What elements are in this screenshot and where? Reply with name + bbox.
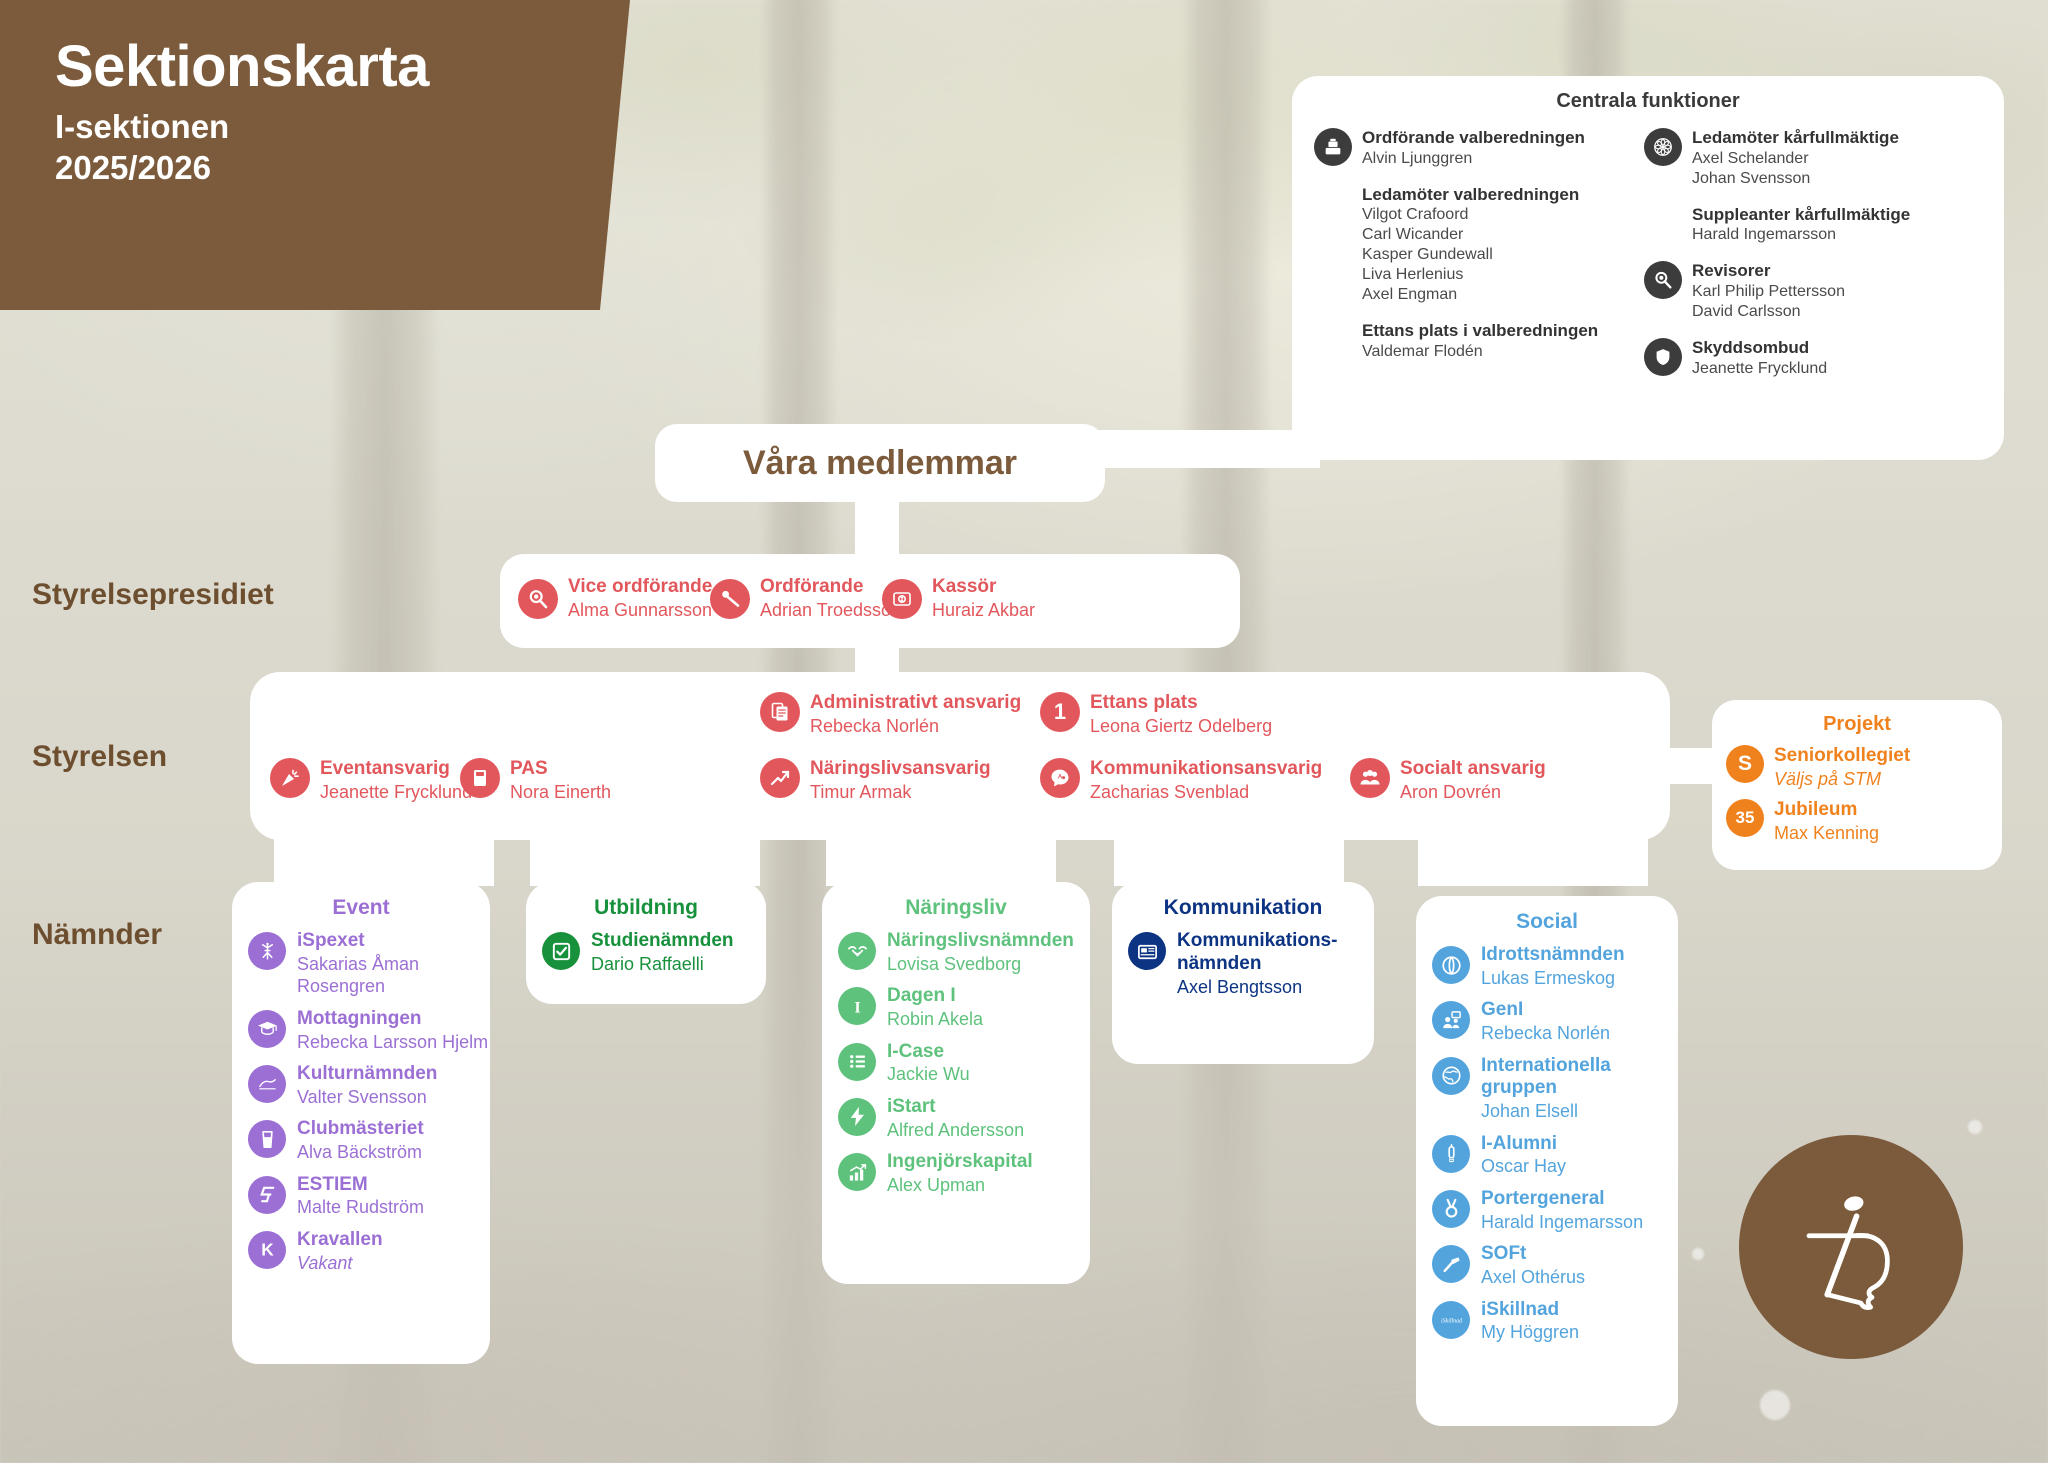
namnd-person: Harald Ingemarsson	[1481, 1212, 1643, 1232]
connector-members-to-central	[1090, 430, 1320, 468]
central-person: Johan Svensson	[1692, 169, 1980, 189]
namnd-person: Malte Rudström	[297, 1197, 424, 1217]
shield-icon	[1644, 338, 1682, 376]
central-role: Ettans plats i valberedningen	[1362, 321, 1644, 342]
graduation-cap-icon	[248, 1010, 286, 1048]
central-entry: Ettans plats i valberedningenValdemar Fl…	[1314, 321, 1644, 362]
namnd-column-title: Social	[1416, 910, 1678, 934]
svg-text:I: I	[854, 997, 860, 1016]
namnd-role: I-Alumni	[1481, 1133, 1557, 1154]
namnd-entry[interactable]: iSpexetSakarias Åman Rosengren	[248, 930, 490, 998]
namnd-entry[interactable]: KulturnämndenValter Svensson	[248, 1063, 490, 1108]
letter-i-icon: I	[838, 987, 876, 1025]
namnd-person: Rebecka Norlén	[1481, 1023, 1610, 1043]
central-functions-panel: Centrala funktioner Ordförande valberedn…	[1292, 76, 2004, 460]
rosette-icon	[1644, 128, 1682, 166]
projekt-person: Max Kenning	[1774, 823, 1879, 843]
namnd-person: Sakarias Åman Rosengren	[297, 954, 419, 997]
chart-up-icon	[760, 758, 800, 798]
central-role: Suppleanter kårfullmäktige	[1692, 205, 1980, 226]
central-person: Vilgot Crafoord	[1362, 205, 1644, 225]
central-entry: Ledamöter kårfullmäktigeAxel SchelanderJ…	[1644, 128, 1980, 189]
namnd-person: Rebecka Larsson Hjelm	[297, 1032, 488, 1052]
namnd-column-social: SocialIdrottsnämndenLukas ErmeskogGenIRe…	[1416, 896, 1678, 1426]
letter-k-icon: K	[248, 1231, 286, 1269]
central-person: Valdemar Flodén	[1362, 342, 1644, 362]
central-person: Carl Wicander	[1362, 225, 1644, 245]
mentor-icon	[1432, 1001, 1470, 1039]
central-person: Harald Ingemarsson	[1692, 225, 1980, 245]
namnd-role: Näringslivsnämnden	[887, 930, 1074, 951]
styrelsepresidiet-card: Vice ordförandeAlma GunnarssonOrdförande…	[500, 554, 1240, 648]
styrelsen-person: Rebecka Norlén	[810, 716, 939, 736]
ball-icon	[1432, 946, 1470, 984]
central-functions-left-column: Ordförande valberedningenAlvin Ljunggren…	[1314, 128, 1644, 378]
money-icon	[882, 579, 922, 619]
styrelsen-entry[interactable]: AKommunikationsansvarigZacharias Svenbla…	[1040, 758, 1322, 803]
namnd-person: Lukas Ermeskog	[1481, 968, 1615, 988]
namnd-entry[interactable]: GenIRebecka Norlén	[1432, 999, 1678, 1044]
lightning-icon	[838, 1098, 876, 1136]
book-icon	[460, 758, 500, 798]
central-entry: RevisorerKarl Philip PetterssonDavid Car…	[1644, 261, 1980, 322]
namnd-role: iSkillnad	[1481, 1299, 1559, 1320]
namnd-role: Kravallen	[297, 1229, 383, 1250]
namnd-person: Robin Akela	[887, 1009, 983, 1029]
central-functions-title: Centrala funktioner	[1292, 90, 2004, 113]
estiem-e-icon	[248, 1176, 286, 1214]
namnd-person: Axel Bengtsson	[1177, 977, 1302, 997]
namnd-role: Portergeneral	[1481, 1188, 1605, 1209]
row-label-styrelsen: Styrelsen	[32, 740, 167, 774]
styrelsen-role: Ettans plats	[1090, 692, 1198, 713]
background-speck	[1692, 1248, 1704, 1260]
document-icon	[760, 692, 800, 732]
projekt-role: Jubileum	[1774, 799, 1857, 820]
svg-text:iSkillnad: iSkillnad	[1440, 1318, 1461, 1324]
row-label-namnder: Nämnder	[32, 918, 162, 952]
styrelsen-role: Eventansvarig	[320, 758, 450, 779]
namnd-entry[interactable]: KKravallenVakant	[248, 1229, 490, 1274]
presidiet-role: Vice ordförande	[568, 576, 712, 597]
namnd-entry[interactable]: StudienämndenDario Raffaelli	[542, 930, 766, 975]
namnd-column-event: EventiSpexetSakarias Åman RosengrenMotta…	[232, 882, 490, 1364]
central-person: Kasper Gundewall	[1362, 245, 1644, 265]
styrelsen-entry[interactable]: PASNora Einerth	[460, 758, 611, 803]
namnd-role: ESTIEM	[297, 1174, 368, 1195]
namnd-entry[interactable]: MottagningenRebecka Larsson Hjelm	[248, 1008, 490, 1053]
central-person: Axel Schelander	[1692, 149, 1980, 169]
drink-glass-icon	[248, 1120, 286, 1158]
namnd-entry[interactable]: PortergeneralHarald Ingemarsson	[1432, 1188, 1678, 1233]
styrelsen-role: Kommunikationsansvarig	[1090, 758, 1322, 779]
checkbox-icon	[542, 932, 580, 970]
styrelsen-person: Nora Einerth	[510, 782, 611, 802]
namnd-role: Idrottsnämnden	[1481, 944, 1625, 965]
namnd-person: Alva Bäckström	[297, 1142, 422, 1162]
namnd-column-title: Event	[232, 896, 490, 920]
bar-chart-icon	[838, 1153, 876, 1191]
magnifier-icon	[1644, 261, 1682, 299]
namnd-role: Mottagningen	[297, 1008, 422, 1029]
styrelsen-role: Näringslivsansvarig	[810, 758, 991, 779]
page-year: 2025/2026	[55, 148, 429, 188]
confetti-icon	[270, 758, 310, 798]
projekt-title: Projekt	[1712, 713, 2002, 736]
namnd-role: Kommunikations-nämnden	[1177, 930, 1337, 974]
central-role: Ledamöter valberedningen	[1362, 185, 1644, 206]
projekt-person: Väljs på STM	[1774, 769, 1881, 789]
namnd-entry[interactable]: ClubmästerietAlva Bäckström	[248, 1118, 490, 1163]
central-entry: Suppleanter kårfullmäktigeHarald Ingemar…	[1644, 205, 1980, 246]
speech-bubble-icon: A	[1040, 758, 1080, 798]
namnd-column-title: Utbildning	[526, 896, 766, 920]
styrelsen-person: Timur Armak	[810, 782, 911, 802]
styrelsen-entry[interactable]: NäringslivsansvarigTimur Armak	[760, 758, 991, 803]
namnd-entry[interactable]: NäringslivsnämndenLovisa Svedborg	[838, 930, 1090, 975]
central-functions-right-column: Ledamöter kårfullmäktigeAxel SchelanderJ…	[1644, 128, 1980, 395]
namnd-role: SOFt	[1481, 1243, 1526, 1264]
namnd-column-title: Näringsliv	[822, 896, 1090, 920]
background-speck	[1760, 1390, 1790, 1420]
newspaper-icon	[1128, 932, 1166, 970]
namnd-column-nringsliv: NäringslivNäringslivsnämndenLovisa Svedb…	[822, 882, 1090, 1284]
styrelsen-person: Aron Dovrén	[1400, 782, 1501, 802]
central-entry: SkyddsombudJeanette Frycklund	[1644, 338, 1980, 379]
central-role: Skyddsombud	[1692, 338, 1980, 359]
people-icon	[1350, 758, 1390, 798]
projekt-entry[interactable]: 35JubileumMax Kenning	[1726, 799, 2002, 844]
presidiet-person: Alma Gunnarsson	[568, 600, 712, 620]
presidiet-role: Ordförande	[760, 576, 863, 597]
presidiet-entry[interactable]: OrdförandeAdrian Troedsson	[710, 576, 901, 621]
namnd-person: Dario Raffaelli	[591, 954, 704, 974]
page-title: Sektionskarta	[55, 36, 429, 97]
namnd-entry[interactable]: iStartAlfred Andersson	[838, 1096, 1090, 1141]
members-label: Våra medlemmar	[743, 444, 1017, 483]
namnd-entry[interactable]: Internationella gruppenJohan Elsell	[1432, 1055, 1678, 1123]
namnd-entry[interactable]: iSkillnadiSkillnadMy Höggren	[1432, 1299, 1678, 1344]
namnd-entry[interactable]: Kommunikations-nämndenAxel Bengtsson	[1128, 930, 1374, 998]
styrelsen-role: Socialt ansvarig	[1400, 758, 1546, 779]
number-one-icon: 1	[1040, 692, 1080, 732]
magnifier-icon	[518, 579, 558, 619]
namnd-entry[interactable]: IDagen IRobin Akela	[838, 985, 1090, 1030]
namnd-person: Alfred Andersson	[887, 1120, 1024, 1140]
globe-icon	[1432, 1057, 1470, 1095]
central-person: Axel Engman	[1362, 285, 1644, 305]
styrelsen-entry[interactable]: Socialt ansvarigAron Dovrén	[1350, 758, 1546, 803]
number-35-icon: 35	[1726, 799, 1764, 837]
presidiet-entry[interactable]: Vice ordförandeAlma Gunnarsson	[518, 576, 712, 621]
medal-icon	[1432, 1190, 1470, 1228]
central-person: Karl Philip Pettersson	[1692, 282, 1980, 302]
gavel-icon	[710, 579, 750, 619]
namnd-person: Jackie Wu	[887, 1064, 970, 1084]
presidiet-person: Huraiz Akbar	[932, 600, 1035, 620]
central-entry: Ledamöter valberedningenVilgot CrafoordC…	[1314, 185, 1644, 306]
namnd-role: Ingenjörskapital	[887, 1151, 1033, 1172]
central-role: Ordförande valberedningen	[1362, 128, 1644, 149]
styrelsen-role: PAS	[510, 758, 548, 779]
background-speck	[1968, 1120, 1982, 1134]
iskillnad-icon: iSkillnad	[1432, 1301, 1470, 1339]
central-person: Jeanette Frycklund	[1692, 359, 1980, 379]
namnd-role: Kulturnämnden	[297, 1063, 437, 1084]
projekt-entry[interactable]: SSeniorkollegietVäljs på STM	[1726, 745, 2002, 790]
styrelsen-entry[interactable]: 1Ettans platsLeona Giertz Odelberg	[1040, 692, 1272, 737]
namnd-person: Valter Svensson	[297, 1087, 427, 1107]
namnd-column-title: Kommunikation	[1112, 896, 1374, 920]
namnd-role: GenI	[1481, 999, 1523, 1020]
central-person: David Carlsson	[1692, 302, 1980, 322]
namnd-entry[interactable]: IdrottsnämndenLukas Ermeskog	[1432, 944, 1678, 989]
namnd-role: iStart	[887, 1096, 936, 1117]
central-person: Liva Herlenius	[1362, 265, 1644, 285]
styrelsen-person: Leona Giertz Odelberg	[1090, 716, 1272, 736]
torch-icon	[1432, 1135, 1470, 1173]
namnd-entry[interactable]: I-AlumniOscar Hay	[1432, 1133, 1678, 1178]
namnd-entry[interactable]: SOFtAxel Othérus	[1432, 1243, 1678, 1288]
namnd-entry[interactable]: ESTIEMMalte Rudström	[248, 1174, 490, 1219]
letter-s-icon: S	[1726, 745, 1764, 783]
handshake-icon	[838, 932, 876, 970]
styrelsen-entry[interactable]: Administrativt ansvarigRebecka Norlén	[760, 692, 1021, 737]
namnd-entry[interactable]: IngenjörskapitalAlex Upman	[838, 1151, 1090, 1196]
styrelsen-entry[interactable]: EventansvarigJeanette Frycklund	[270, 758, 472, 803]
hammer-icon	[1432, 1245, 1470, 1283]
presidiet-entry[interactable]: KassörHuraiz Akbar	[882, 576, 1035, 621]
namnd-person: My Höggren	[1481, 1322, 1579, 1342]
namnd-column-utbildning: UtbildningStudienämndenDario Raffaelli	[526, 882, 766, 1004]
svg-text:A: A	[1058, 774, 1063, 781]
i-sektionen-face-logo	[1739, 1135, 1963, 1359]
namnd-person: Alex Upman	[887, 1175, 985, 1195]
presidiet-role: Kassör	[932, 576, 996, 597]
presidiet-person: Adrian Troedsson	[760, 600, 901, 620]
central-role: Revisorer	[1692, 261, 1980, 282]
central-person: Alvin Ljunggren	[1362, 149, 1644, 169]
spex-icon	[248, 932, 286, 970]
namnd-role: Clubmästeriet	[297, 1118, 424, 1139]
namnd-person: Axel Othérus	[1481, 1267, 1585, 1287]
namnd-person: Vakant	[297, 1253, 352, 1273]
namnd-role: Studienämnden	[591, 930, 734, 951]
picasso-icon	[248, 1065, 286, 1103]
namnd-person: Oscar Hay	[1481, 1156, 1566, 1176]
svg-text:K: K	[261, 1240, 274, 1260]
styrelsen-role: Administrativt ansvarig	[810, 692, 1021, 713]
projekt-items: SSeniorkollegietVäljs på STM35JubileumMa…	[1712, 745, 2002, 845]
namnd-column-kommunikation: KommunikationKommunikations-nämndenAxel …	[1112, 882, 1374, 1064]
namnd-role: Dagen I	[887, 985, 956, 1006]
central-entry: Ordförande valberedningenAlvin Ljunggren	[1314, 128, 1644, 169]
projekt-card: Projekt SSeniorkollegietVäljs på STM35Ju…	[1712, 700, 2002, 870]
namnd-entry[interactable]: I-CaseJackie Wu	[838, 1041, 1090, 1086]
central-role: Ledamöter kårfullmäktige	[1692, 128, 1980, 149]
styrelsen-person: Jeanette Frycklund	[320, 782, 472, 802]
page-subtitle: I-sektionen	[55, 107, 429, 147]
namnd-role: iSpexet	[297, 930, 365, 951]
projekt-role: Seniorkollegiet	[1774, 745, 1910, 766]
row-label-styrelsepresidiet: Styrelsepresidiet	[32, 578, 274, 612]
styrelsen-person: Zacharias Svenblad	[1090, 782, 1249, 802]
namnd-role: I-Case	[887, 1041, 944, 1062]
members-node[interactable]: Våra medlemmar	[655, 424, 1105, 502]
namnd-person: Johan Elsell	[1481, 1101, 1578, 1121]
page-title-block: Sektionskarta I-sektionen 2025/2026	[55, 36, 429, 188]
namnd-role: Internationella gruppen	[1481, 1055, 1611, 1099]
list-icon	[838, 1043, 876, 1081]
styrelsen-card: EventansvarigJeanette FrycklundPASNora E…	[250, 672, 1670, 840]
namnd-person: Lovisa Svedborg	[887, 954, 1021, 974]
ballot-box-icon	[1314, 128, 1352, 166]
